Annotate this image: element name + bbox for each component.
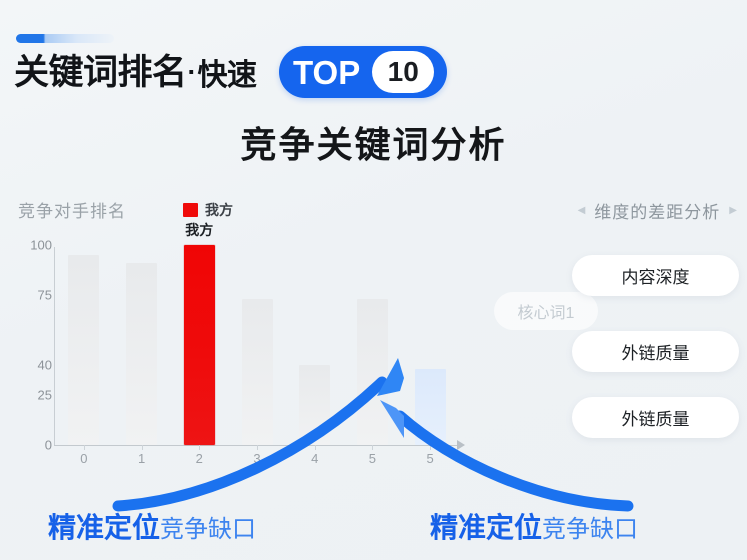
chevron-right-icon[interactable]: ▶ bbox=[729, 206, 737, 216]
x-tickmark-1 bbox=[142, 445, 143, 450]
progress-decoration bbox=[16, 34, 114, 43]
x-tick-1: 1 bbox=[138, 451, 145, 466]
caption-left-weak: 竞争缺口 bbox=[160, 509, 256, 544]
caption-right-weak: 竞争缺口 bbox=[542, 509, 638, 544]
chart-caption: 竞争对手排名 bbox=[18, 197, 126, 222]
header-kicker: 关键词排名 · 快速 bbox=[14, 46, 257, 98]
bar-1[interactable] bbox=[126, 263, 157, 445]
legend-label: 我方 bbox=[205, 200, 233, 220]
x-tick-5: 5 bbox=[369, 451, 376, 466]
legend-swatch-icon bbox=[183, 203, 198, 217]
x-tickmark-5 bbox=[372, 445, 373, 450]
dimension-card-1[interactable]: 外链质量 bbox=[572, 331, 739, 372]
bar-4[interactable] bbox=[299, 365, 330, 445]
x-axis-line bbox=[54, 445, 458, 446]
caption-left: 精准定位 竞争缺口 bbox=[48, 506, 256, 546]
x-tick-0: 0 bbox=[80, 451, 87, 466]
dimension-panel-header: ◀ 维度的差距分析 ▶ bbox=[578, 198, 737, 223]
x-tickmark-3 bbox=[257, 445, 258, 450]
caption-right: 精准定位 竞争缺口 bbox=[430, 506, 638, 546]
x-tickmark-0 bbox=[84, 445, 85, 450]
x-tick-3: 3 bbox=[253, 451, 260, 466]
y-tick-100: 100 bbox=[12, 238, 52, 253]
x-tick-6: 5 bbox=[427, 451, 434, 466]
y-axis-labels: 0254075100 bbox=[8, 245, 52, 445]
chart-legend: 我方 bbox=[183, 200, 233, 220]
x-tickmark-2 bbox=[199, 445, 200, 450]
y-tick-40: 40 bbox=[12, 358, 52, 373]
y-tick-0: 0 bbox=[12, 438, 52, 453]
competitor-bar-chart: 0254075100 我方 0123455 bbox=[8, 245, 478, 460]
page-title: 竞争关键词分析 bbox=[0, 116, 747, 168]
bar-6[interactable] bbox=[415, 369, 446, 445]
bar-2[interactable]: 我方 bbox=[184, 245, 215, 445]
core-keyword-ghost-pill: 核心词1 bbox=[494, 292, 598, 330]
x-tickmark-4 bbox=[315, 445, 316, 450]
y-tick-75: 75 bbox=[12, 288, 52, 303]
caption-left-strong: 精准定位 bbox=[48, 506, 160, 546]
dimension-card-2[interactable]: 外链质量 bbox=[572, 397, 739, 438]
bar-0[interactable] bbox=[68, 255, 99, 445]
x-tickmark-6 bbox=[430, 445, 431, 450]
dimension-card-0[interactable]: 内容深度 bbox=[572, 255, 739, 296]
kicker-sub-text: 快速 bbox=[198, 50, 257, 94]
top-rank-badge[interactable]: TOP 10 bbox=[279, 46, 447, 98]
bar-highlight-label: 我方 bbox=[185, 220, 213, 240]
y-tick-25: 25 bbox=[12, 388, 52, 403]
caption-right-strong: 精准定位 bbox=[430, 506, 542, 546]
dimension-panel-title: 维度的差距分析 bbox=[594, 198, 720, 223]
kicker-main-text: 关键词排名 bbox=[14, 55, 187, 90]
top-badge-label: TOP bbox=[293, 56, 360, 89]
kicker-separator-dot: · bbox=[188, 57, 197, 88]
top-badge-value: 10 bbox=[372, 51, 434, 93]
chevron-left-icon[interactable]: ◀ bbox=[578, 206, 586, 216]
chart-plot-area: 我方 bbox=[55, 245, 459, 445]
x-tick-4: 4 bbox=[311, 451, 318, 466]
x-tick-2: 2 bbox=[196, 451, 203, 466]
bar-5[interactable] bbox=[357, 299, 388, 445]
bar-3[interactable] bbox=[242, 299, 273, 445]
